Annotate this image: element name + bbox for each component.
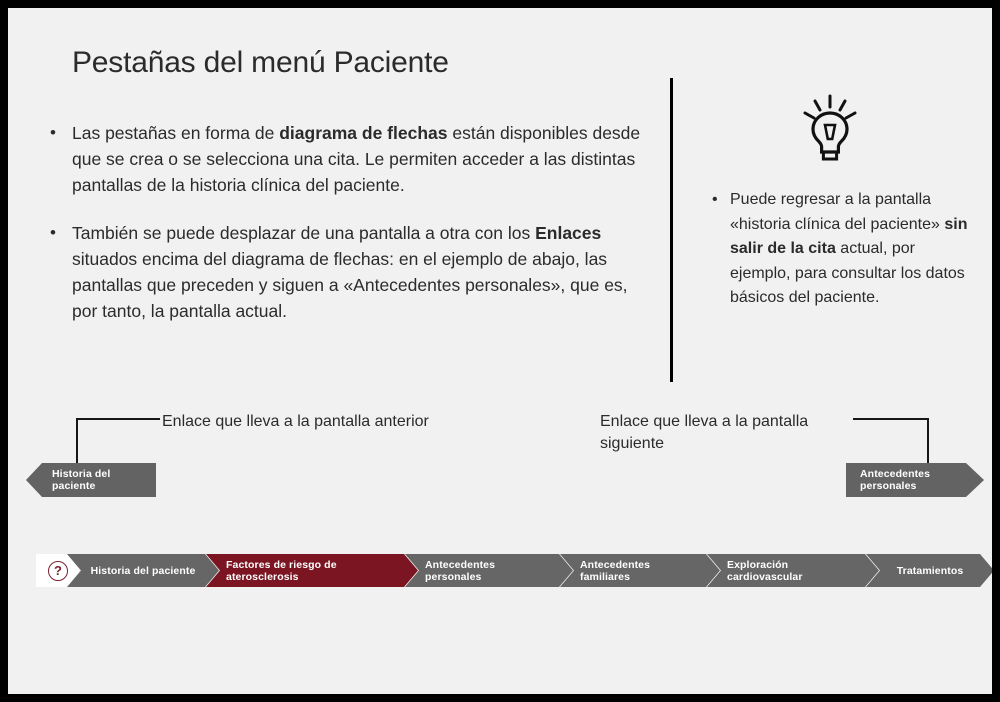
- connector-horizontal-segment: [76, 418, 160, 420]
- bullet-marker: •: [44, 220, 72, 246]
- connector-vertical-segment: [927, 418, 929, 466]
- bullet-marker: •: [706, 188, 730, 212]
- connector-horizontal-segment: [853, 418, 929, 420]
- bullet-text: Puede regresar a la pantalla «historia c…: [730, 188, 974, 311]
- question-mark-icon[interactable]: ?: [48, 561, 68, 581]
- lightbulb-icon: [803, 94, 857, 162]
- bullet-item: •Las pestañas en forma de diagrama de fl…: [44, 120, 644, 198]
- bullet-text: También se puede desplazar de una pantal…: [72, 220, 644, 324]
- callout-label-previous: Enlace que lleva a la pantalla anterior: [162, 411, 462, 433]
- callout-connector-next: [853, 418, 929, 466]
- breadcrumb-step[interactable]: Antecedentes familiares: [560, 554, 720, 587]
- emphasized-text: diagrama de flechas: [279, 123, 447, 143]
- body-text: También se puede desplazar de una pantal…: [72, 223, 535, 243]
- body-text: Las pestañas en forma de: [72, 123, 279, 143]
- callout-connector-previous: [76, 418, 160, 466]
- slide-canvas: Pestañas del menú Paciente •Las pestañas…: [8, 8, 992, 694]
- breadcrumb-step[interactable]: Factores de riesgo de aterosclerosis: [206, 554, 418, 587]
- page-title: Pestañas del menú Paciente: [72, 46, 449, 80]
- breadcrumb-step[interactable]: Tratamientos: [866, 554, 992, 587]
- body-text: Puede regresar a la pantalla «historia c…: [730, 191, 944, 233]
- link-chevron-previous-screen[interactable]: Historia del paciente: [26, 463, 156, 497]
- bullet-text: Las pestañas en forma de diagrama de fle…: [72, 120, 644, 198]
- callout-label-next: Enlace que lleva a la pantalla siguiente: [600, 411, 820, 455]
- vertical-divider: [670, 78, 673, 382]
- emphasized-text: Enlaces: [535, 223, 601, 243]
- body-text: situados encima del diagrama de flechas:…: [72, 249, 628, 321]
- connector-vertical-segment: [76, 418, 78, 466]
- breadcrumb-step[interactable]: Exploración cardiovascular: [707, 554, 879, 587]
- breadcrumb-step[interactable]: Antecedentes personales: [405, 554, 573, 587]
- link-chevron-next-screen[interactable]: Antecedentes personales: [846, 463, 984, 497]
- breadcrumb-arrow-bar: ? Historia del pacienteFactores de riesg…: [36, 554, 992, 587]
- breadcrumb-step[interactable]: Historia del paciente: [67, 554, 219, 587]
- left-body-content: •Las pestañas en forma de diagrama de fl…: [44, 120, 644, 346]
- right-body-content: •Puede regresar a la pantalla «historia …: [706, 188, 974, 311]
- bullet-item: •También se puede desplazar de una panta…: [44, 220, 644, 324]
- bullet-marker: •: [44, 120, 72, 146]
